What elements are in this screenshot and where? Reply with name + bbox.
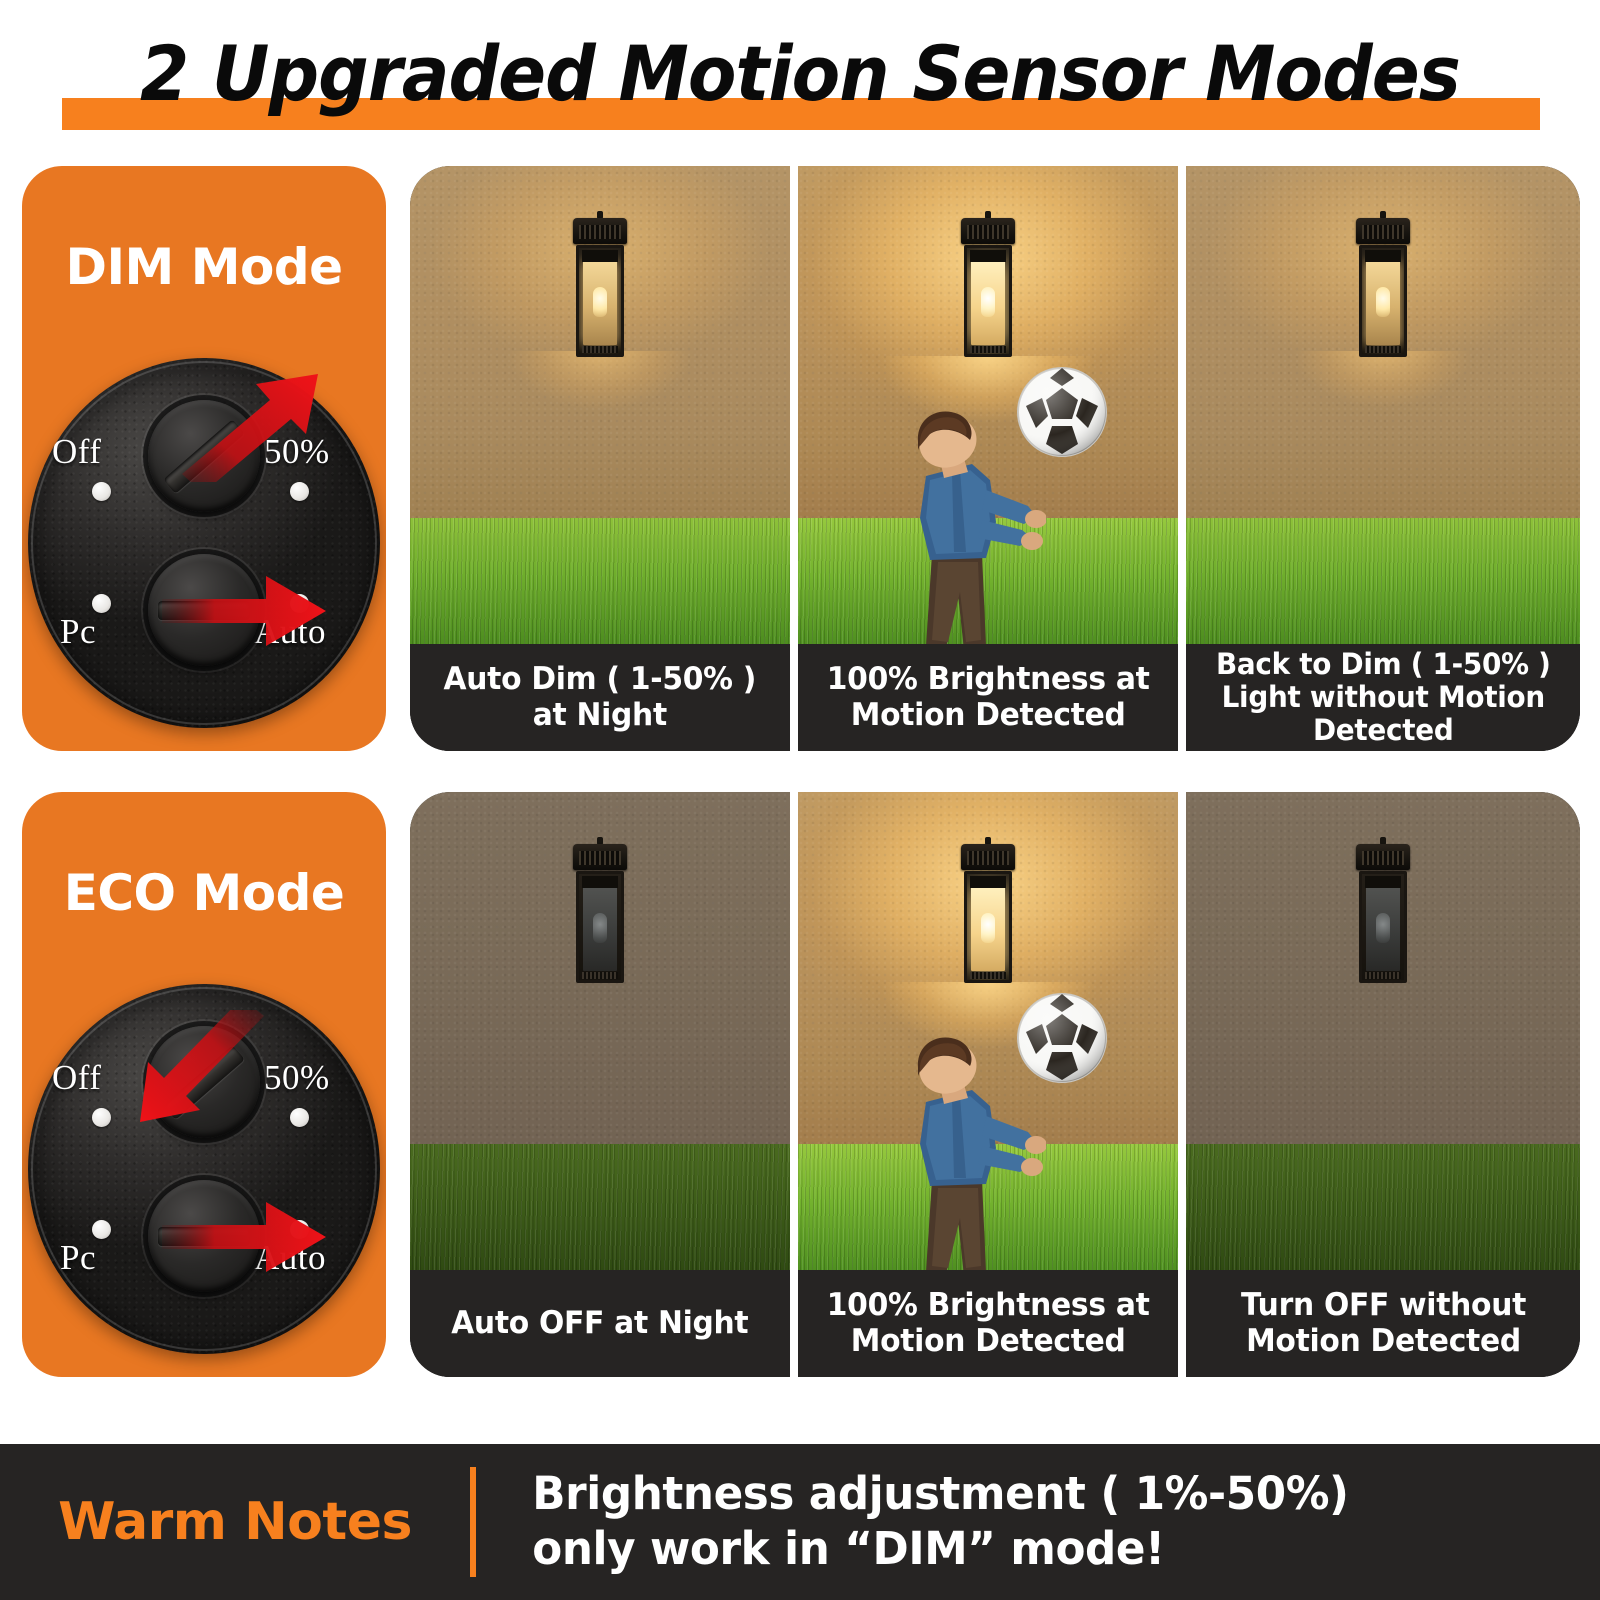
- grass-foreground: [1186, 1144, 1580, 1270]
- caption-line: Detected: [1313, 713, 1454, 747]
- photo-panel: Back to Dim ( 1-50% ) Light without Moti…: [1186, 166, 1580, 751]
- photo-panel: Auto Dim ( 1-50% ) at Night: [410, 166, 790, 751]
- page-title: 2 Upgraded Motion Sensor Modes: [56, 22, 1544, 126]
- mode-card-dim[interactable]: DIM Mode Off 50% Pc Auto: [22, 166, 386, 751]
- photo-panel: 100% Brightness at Motion Detected: [798, 792, 1178, 1377]
- caption-text: 100% Brightness at Motion Detected: [827, 1288, 1150, 1359]
- mode-row-dim: DIM Mode Off 50% Pc Auto: [0, 166, 1600, 758]
- caption-line: Motion Detected: [851, 697, 1126, 733]
- photo-strip-eco: Auto OFF at Night: [410, 792, 1580, 1377]
- mode-title-eco: ECO Mode: [22, 864, 386, 922]
- arrow-up-right-icon: [178, 370, 328, 482]
- scene: [410, 792, 790, 1270]
- mode-row-eco: ECO Mode Off 50% Pc Auto: [0, 792, 1600, 1384]
- caption-line: 100% Brightness at: [827, 661, 1150, 697]
- warm-notes-text: Brightness adjustment ( 1%-50%) only wor…: [476, 1467, 1566, 1577]
- wall-lantern-icon: [961, 844, 1015, 994]
- grass-foreground: [410, 1144, 790, 1270]
- mode-title-dim: DIM Mode: [22, 238, 386, 296]
- panel-caption: Turn OFF without Motion Detected: [1186, 1270, 1580, 1377]
- wall-lantern-icon: [1356, 218, 1410, 368]
- caption-line: Light without Motion: [1221, 680, 1544, 714]
- photo-panel: Auto OFF at Night: [410, 792, 790, 1377]
- caption-text: Auto Dim ( 1-50% ) at Night: [444, 662, 757, 733]
- dial-dot-50: [290, 1108, 309, 1127]
- caption-text: Turn OFF without Motion Detected: [1240, 1288, 1525, 1359]
- wall-lantern-icon: [1356, 844, 1410, 994]
- infographic-page: 2 Upgraded Motion Sensor Modes DIM Mode …: [0, 0, 1600, 1600]
- grass-foreground: [410, 518, 790, 644]
- panel-caption: 100% Brightness at Motion Detected: [798, 1270, 1178, 1377]
- panel-caption: Auto OFF at Night: [410, 1270, 790, 1377]
- caption-line: Back to Dim ( 1-50% ): [1216, 647, 1551, 681]
- soccer-ball-icon: [1016, 366, 1108, 458]
- arrow-right-icon: [160, 572, 328, 650]
- dial-dot-off: [92, 482, 111, 501]
- caption-text: 100% Brightness at Motion Detected: [827, 662, 1150, 733]
- arrow-right-icon: [160, 1198, 328, 1276]
- scene: [1186, 166, 1580, 644]
- scene: [1186, 792, 1580, 1270]
- dial-dot-50: [290, 482, 309, 501]
- sensor-dial-eco[interactable]: Off 50% Pc Auto: [28, 984, 380, 1354]
- scene: [410, 166, 790, 644]
- caption-text: Back to Dim ( 1-50% ) Light without Moti…: [1216, 648, 1551, 747]
- warm-notes-line-2: only work in “DIM” mode!: [532, 1522, 1537, 1577]
- panel-caption: 100% Brightness at Motion Detected: [798, 644, 1178, 751]
- wall-lantern-icon: [573, 218, 627, 368]
- soccer-ball-icon: [1016, 992, 1108, 1084]
- grass-foreground: [1186, 518, 1580, 644]
- warm-notes-label: Warm Notes: [0, 1492, 470, 1552]
- dial-label-off: Off: [52, 1058, 101, 1098]
- photo-panel: Turn OFF without Motion Detected: [1186, 792, 1580, 1377]
- scene: [798, 792, 1178, 1270]
- mode-rows: DIM Mode Off 50% Pc Auto: [0, 166, 1600, 1418]
- dial-dot-off: [92, 1108, 111, 1127]
- panel-caption: Auto Dim ( 1-50% ) at Night: [410, 644, 790, 751]
- dial-dot-pc: [92, 1220, 111, 1239]
- dial-dot-pc: [92, 594, 111, 613]
- wall-lantern-icon: [961, 218, 1015, 368]
- caption-line: Auto Dim ( 1-50% ): [444, 661, 757, 697]
- caption-line: Turn OFF without: [1240, 1287, 1525, 1323]
- caption-text: Auto OFF at Night: [451, 1306, 748, 1341]
- caption-line: Motion Detected: [1246, 1323, 1521, 1359]
- header: 2 Upgraded Motion Sensor Modes: [0, 22, 1600, 140]
- mode-card-eco[interactable]: ECO Mode Off 50% Pc Auto: [22, 792, 386, 1377]
- warm-notes-line-1: Brightness adjustment ( 1%-50%): [532, 1467, 1537, 1522]
- dial-label-off: Off: [52, 432, 101, 472]
- caption-line: at Night: [533, 697, 667, 733]
- photo-strip-dim: Auto Dim ( 1-50% ) at Night: [410, 166, 1580, 751]
- caption-line: Motion Detected: [851, 1323, 1126, 1359]
- wall-lantern-icon: [573, 844, 627, 994]
- dial-label-pc: Pc: [60, 612, 96, 652]
- panel-caption: Back to Dim ( 1-50% ) Light without Moti…: [1186, 644, 1580, 751]
- dial-label-pc: Pc: [60, 1238, 96, 1278]
- sensor-dial-dim[interactable]: Off 50% Pc Auto: [28, 358, 380, 728]
- arrow-down-left-icon: [136, 1010, 268, 1130]
- photo-panel: 100% Brightness at Motion Detected: [798, 166, 1178, 751]
- warm-notes-bar: Warm Notes Brightness adjustment ( 1%-50…: [0, 1444, 1600, 1600]
- caption-line: 100% Brightness at: [827, 1287, 1150, 1323]
- scene: [798, 166, 1178, 644]
- dial-label-50: 50%: [264, 1058, 330, 1098]
